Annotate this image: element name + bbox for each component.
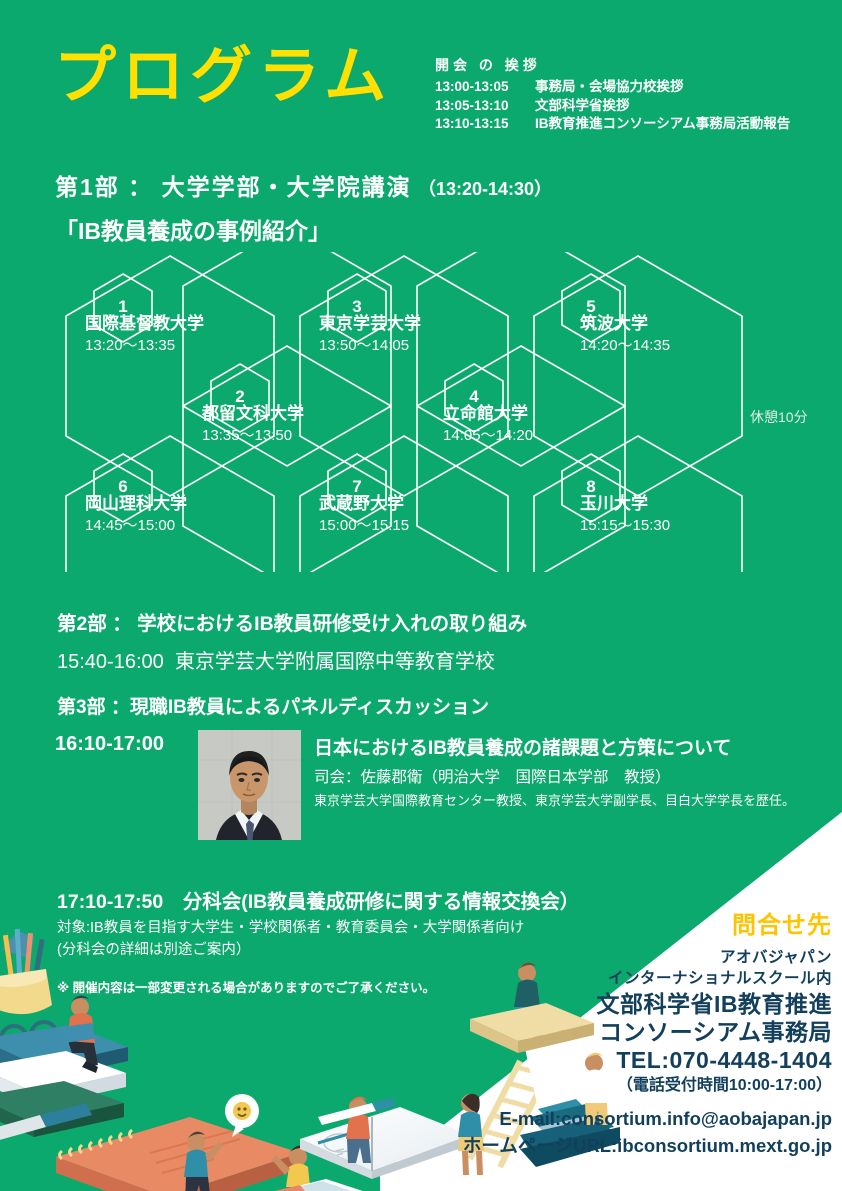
opening-time: 13:10-13:15 [435, 117, 535, 131]
break-note: 休憩10分 [750, 407, 808, 427]
contact-org-line3: 文部科学省IB教育推進 [452, 990, 832, 1018]
contact-block: 問合せ先 アオバジャパン インターナショナルスクール内 文部科学省IB教育推進 … [452, 905, 832, 1160]
contact-telephone[interactable]: TEL:070-4448-1404 [452, 1046, 832, 1075]
part3-moderator-bio: 東京学芸大学国際教育センター教授、東京学芸大学副学長、目白大学学長を歴任。 [314, 790, 795, 809]
opening-ceremony-block: 開会 の 挨拶 13:00-13:05事務局・会場協力校挨拶 13:05-13:… [435, 58, 790, 136]
page-title: プログラム [54, 46, 392, 108]
moderator-portrait [198, 730, 301, 840]
pencil-cup-icon [0, 929, 52, 1014]
breakout-note: (分科会の詳細は別途ご案内） [57, 938, 250, 959]
part2-time: 15:40-16:00 [57, 651, 164, 673]
disclaimer-notice: ※ 開催内容は一部変更される場合がありますのでご了承ください。 [57, 977, 435, 996]
part3-moderator: 司会：佐藤郡衛（明治大学 国際日本学部 教授） [314, 765, 671, 787]
opening-row: 13:05-13:10文部科学省挨拶 [435, 99, 790, 113]
contact-hours: （電話受付時間10:00-17:00） [452, 1075, 832, 1097]
part3-time: 16:10-17:00 [55, 733, 164, 756]
spiral-notebook [56, 1117, 300, 1191]
opening-row: 13:10-13:15IB教育推進コンソーシアム事務局活動報告 [435, 117, 790, 131]
part2-org: 東京学芸大学附属国際中等教育学校 [175, 651, 495, 673]
contact-org-line2: インターナショナルスクール内 [452, 969, 832, 990]
hexagon-outlines [0, 252, 842, 572]
part3-topic: 日本におけるIB教員養成の諸課題と方策について [314, 733, 731, 760]
part2-heading: 第2部 ： 学校におけるIB教員研修受け入れの取り組み [57, 607, 527, 636]
contact-title: 問合せ先 [452, 905, 832, 940]
part3-heading: 第3部 ：現職IB教員によるパネルディスカッション [57, 692, 489, 719]
part1-subtitle: 「IB教員養成の事例紹介」 [55, 212, 331, 246]
contact-website-url[interactable]: ホームページURL:ibconsortium.mext.go.jp [452, 1133, 832, 1160]
part1-time: （13:20-14:30） [418, 179, 552, 199]
moderator-photo [198, 730, 301, 840]
part1-heading: 第1部 ： 大学学部・大学院講演 （13:20-14:30） [55, 168, 552, 202]
opening-text: 文部科学省挨拶 [535, 98, 630, 113]
opening-time: 13:00-13:05 [435, 80, 535, 94]
hexagon-grid: 1 2 3 4 5 6 7 8 国際基督教大学 13:20〜13:35 都留文科… [0, 252, 842, 572]
opening-text: IB教育推進コンソーシアム事務局活動報告 [535, 116, 790, 131]
part1-heading-text: 第1部 ： 大学学部・大学院講演 [55, 174, 412, 200]
opening-time: 13:05-13:10 [435, 99, 535, 113]
part2-row: 15:40-16:00 東京学芸大学附属国際中等教育学校 [57, 645, 495, 674]
contact-org-line1: アオバジャパン [452, 948, 832, 969]
opening-label: 開会 の 挨拶 [435, 58, 790, 72]
opening-text: 事務局・会場協力校挨拶 [535, 79, 684, 94]
contact-org-line4: コンソーシアム事務局 [452, 1018, 832, 1046]
program-poster: プログラム 開会 の 挨拶 13:00-13:05事務局・会場協力校挨拶 13:… [0, 0, 842, 1191]
opening-row: 13:00-13:05事務局・会場協力校挨拶 [435, 80, 790, 94]
contact-email[interactable]: E-mail:consortium.info@aobajapan.jp [452, 1106, 832, 1133]
